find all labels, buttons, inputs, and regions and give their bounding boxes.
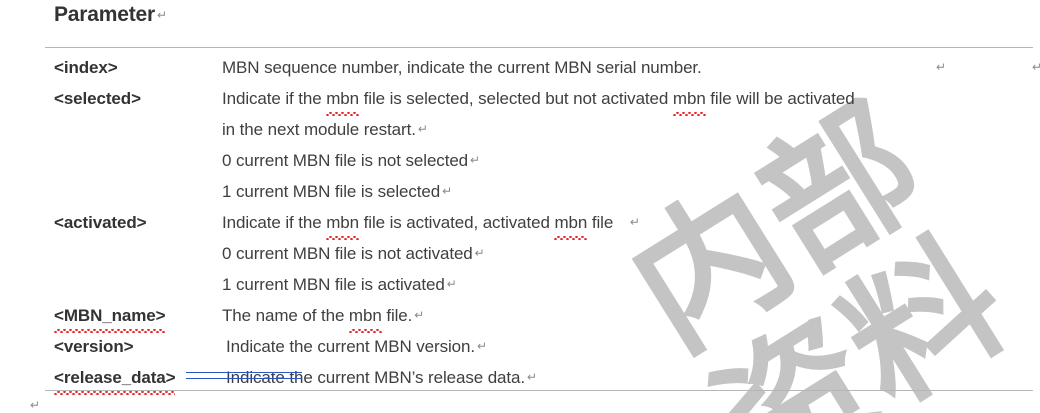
paragraph-mark-icon: ↵ [936, 52, 946, 83]
parameter-term: <version> [54, 331, 133, 362]
table-row: in the next module restart.↵ [0, 114, 1040, 145]
desc-part: file is selected, selected but not activ… [359, 89, 673, 108]
paragraph-mark-icon: ↵ [473, 246, 485, 260]
spellcheck-word: <release_data> [54, 362, 175, 393]
paragraph-mark-icon: ↵ [445, 277, 457, 291]
table-row: 1 current MBN file is selected↵ [0, 176, 1040, 207]
parameter-term: <selected> [54, 83, 141, 114]
desc-part: The name of the [222, 306, 349, 325]
parameter-description: Indicate the current MBN version.↵ [226, 331, 487, 362]
page-title: Parameter↵ [54, 3, 167, 27]
parameter-term: <activated> [54, 207, 146, 238]
desc-part: file. [382, 306, 413, 325]
paragraph-mark-icon: ↵ [416, 122, 428, 136]
spellcheck-word: <MBN_name> [54, 300, 165, 331]
paragraph-mark-icon: ↵ [475, 339, 487, 353]
parameter-term: <index> [54, 52, 118, 83]
parameter-term: <MBN_name> [54, 300, 165, 331]
paragraph-mark-icon: ↵ [440, 184, 452, 198]
paragraph-mark-icon: ↵ [525, 370, 537, 384]
desc-part: file [587, 213, 618, 232]
parameter-description: MBN sequence number, indicate the curren… [222, 52, 702, 83]
tracked-change-underline [186, 372, 302, 379]
parameter-description: 0 current MBN file is not selected↵ [222, 145, 480, 176]
spellcheck-word: mbn [326, 83, 359, 114]
desc-part: 1 current MBN file is selected [222, 182, 440, 201]
table-row: 0 current MBN file is not selected↵ [0, 145, 1040, 176]
desc-part: Indicate if the [222, 213, 326, 232]
desc-part: file will be activated [706, 89, 855, 108]
parameter-description: 0 current MBN file is not activated↵ [222, 238, 485, 269]
desc-part: Indicate the current MBN version. [226, 337, 475, 356]
top-divider [45, 47, 1033, 48]
paragraph-mark-icon: ↵ [618, 215, 640, 229]
desc-part: Indicate if the [222, 89, 326, 108]
spellcheck-word: mbn [554, 207, 587, 238]
spellcheck-word: mbn [349, 300, 382, 331]
parameter-description: 1 current MBN file is activated↵ [222, 269, 457, 300]
desc-part: in the next module restart. [222, 120, 416, 139]
table-row: <selected> Indicate if the mbn file is s… [0, 83, 1040, 114]
paragraph-mark-icon: ↵ [468, 153, 480, 167]
paragraph-mark-icon: ↵ [412, 308, 424, 322]
table-row: 0 current MBN file is not activated↵ [0, 238, 1040, 269]
parameter-description: in the next module restart.↵ [222, 114, 428, 145]
bottom-divider [45, 390, 1033, 391]
document-page: 内部 资料 Parameter↵ <index> MBN sequence nu… [0, 0, 1040, 413]
parameter-term: <release_data> [54, 362, 175, 393]
table-row: <activated> Indicate if the mbn file is … [0, 207, 1040, 238]
desc-part: file is activated, activated [359, 213, 554, 232]
spellcheck-word: mbn [326, 207, 359, 238]
paragraph-mark-icon: ↵ [155, 8, 167, 22]
parameter-description: 1 current MBN file is selected↵ [222, 176, 452, 207]
parameter-table: <index> MBN sequence number, indicate th… [0, 52, 1040, 393]
spellcheck-word: mbn [673, 83, 706, 114]
desc-part: 0 current MBN file is not activated [222, 244, 473, 263]
parameter-description: Indicate if the mbn file is selected, se… [222, 83, 855, 114]
paragraph-mark-icon: ↵ [30, 398, 40, 412]
paragraph-mark-icon: ↵ [1032, 52, 1040, 83]
table-row: <version> Indicate the current MBN versi… [0, 331, 1040, 362]
table-row: <MBN_name> The name of the mbn file.↵ [0, 300, 1040, 331]
table-row: <release_data> Indicate the current MBN’… [0, 362, 1040, 393]
table-row: 1 current MBN file is activated↵ [0, 269, 1040, 300]
page-title-text: Parameter [54, 3, 155, 26]
table-row: <index> MBN sequence number, indicate th… [0, 52, 1040, 83]
parameter-description: The name of the mbn file.↵ [222, 300, 424, 331]
desc-part: 1 current MBN file is activated [222, 275, 445, 294]
desc-part: 0 current MBN file is not selected [222, 151, 468, 170]
parameter-description: Indicate if the mbn file is activated, a… [222, 207, 640, 238]
